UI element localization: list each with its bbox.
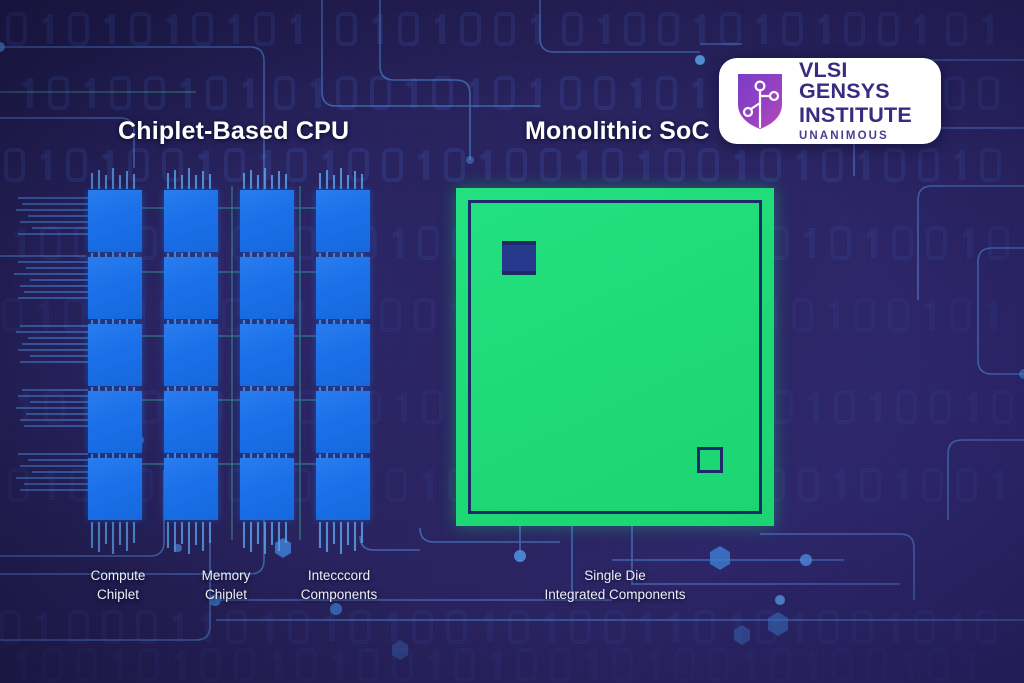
- chiplet-r4c3[interactable]: [240, 391, 294, 453]
- die-block-bottom-right: [697, 447, 723, 473]
- logo-badge[interactable]: VLSI GENSYS INSTITUTE UNANIMOUS: [719, 58, 941, 144]
- chiplet-r1c1[interactable]: [88, 190, 142, 252]
- chiplet-r2c1[interactable]: [88, 257, 142, 319]
- caption-memory-line1: Memory: [178, 566, 274, 585]
- infographic-canvas: Chiplet-Based CPU Monolithic SoC Compute: [0, 0, 1024, 683]
- caption-interconnect-components: Intecccord Components: [278, 566, 400, 604]
- chiplet-r4c2[interactable]: [164, 391, 218, 453]
- chiplet-r2c2[interactable]: [164, 257, 218, 319]
- caption-memory-chiplet: Memory Chiplet: [178, 566, 274, 604]
- chiplet-r4c4[interactable]: [316, 391, 370, 453]
- caption-compute-line1: Compute: [70, 566, 166, 585]
- chiplet-r4c1[interactable]: [88, 391, 142, 453]
- caption-compute-chiplet: Compute Chiplet: [70, 566, 166, 604]
- chiplet-r5c3[interactable]: [240, 458, 294, 520]
- chiplet-r3c2[interactable]: [164, 324, 218, 386]
- chiplet-r5c1[interactable]: [88, 458, 142, 520]
- logo-line-3: UNANIMOUS: [799, 131, 927, 143]
- caption-single-die-line2: Integrated Components: [520, 585, 710, 604]
- chiplet-r3c4[interactable]: [316, 324, 370, 386]
- chiplet-grid: [88, 190, 370, 520]
- caption-single-die-line1: Single Die: [520, 566, 710, 585]
- logo-line-1: VLSI GENSYS: [799, 60, 927, 103]
- chiplet-r1c3[interactable]: [240, 190, 294, 252]
- chiplet-r2c4[interactable]: [316, 257, 370, 319]
- caption-interconnect-line2: Components: [278, 585, 400, 604]
- chiplet-r3c1[interactable]: [88, 324, 142, 386]
- caption-memory-line2: Chiplet: [178, 585, 274, 604]
- chiplet-r5c2[interactable]: [164, 458, 218, 520]
- monolithic-die[interactable]: [456, 188, 774, 526]
- logo-text: VLSI GENSYS INSTITUTE UNANIMOUS: [799, 60, 927, 143]
- chiplet-r1c2[interactable]: [164, 190, 218, 252]
- shield-circuit-node-icon: [732, 70, 788, 132]
- chiplet-r3c3[interactable]: [240, 324, 294, 386]
- caption-single-die: Single Die Integrated Components: [520, 566, 710, 604]
- chiplet-r2c3[interactable]: [240, 257, 294, 319]
- chiplet-r1c4[interactable]: [316, 190, 370, 252]
- caption-compute-line2: Chiplet: [70, 585, 166, 604]
- page-title-monolithic-soc: Monolithic SoC: [525, 117, 710, 146]
- logo-line-2: INSTITUTE: [799, 105, 927, 127]
- chiplet-r5c4[interactable]: [316, 458, 370, 520]
- caption-interconnect-line1: Intecccord: [278, 566, 400, 585]
- die-block-top-left: [502, 241, 536, 275]
- monolithic-die-inner-border: [468, 200, 762, 514]
- page-title-chiplet-based-cpu: Chiplet-Based CPU: [118, 117, 349, 146]
